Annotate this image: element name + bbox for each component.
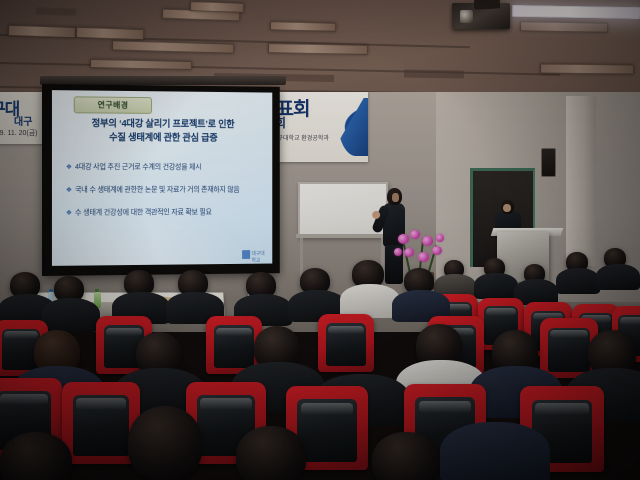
- auditorium-seat[interactable]: [318, 314, 374, 372]
- audience-shoulders: [596, 264, 640, 290]
- seat-highlight: [4, 331, 39, 339]
- orchid-bloom: [436, 234, 444, 242]
- audience-shoulders: [556, 268, 600, 294]
- bullet-marker-icon: ❖: [66, 185, 72, 194]
- slide-bullet-text: 국내 수 생태계에 관한한 논문 및 자료가 거의 존재하지 않음: [75, 185, 240, 194]
- ceiling-light-fixture: [112, 40, 234, 53]
- slide-title: 정부의 ‘4대강 살리기 프로젝트’로 인한 수질 생태계에 관한 관심 급증: [52, 117, 272, 146]
- wall-speaker: [541, 148, 556, 177]
- slide-bullet: ❖4대강 사업 추진 근거로 수계의 건강성을 제시: [66, 162, 265, 172]
- ceiling-vent: [404, 69, 464, 78]
- banner-left-mid-text: 대구: [14, 113, 32, 128]
- presentation-slide: 연구배경 정부의 ‘4대강 살리기 프로젝트’로 인한 수질 생태계에 관한 관…: [52, 90, 272, 266]
- ceiling-light-fixture: [540, 64, 634, 75]
- ceiling-light-fixture: [520, 21, 608, 33]
- seat-highlight: [550, 330, 587, 338]
- slide-bullet: ❖국내 수 생태계에 관한한 논문 및 자료가 거의 존재하지 않음: [66, 185, 265, 195]
- banner-left-date: 2009. 11. 20(금): [0, 128, 38, 138]
- bullet-marker-icon: ❖: [66, 208, 72, 217]
- audience-head-foreground: [372, 432, 440, 480]
- audience-shoulders: [474, 273, 518, 299]
- slide-section-tab-label: 연구배경: [98, 100, 129, 111]
- projector-mount: [474, 0, 500, 10]
- ceiling-projector: [452, 3, 510, 29]
- bullet-marker-icon: ❖: [66, 162, 72, 171]
- banner-right-subtitle: 대구대학교 환경공학과: [272, 133, 329, 142]
- slide-section-tab: 연구배경: [74, 96, 152, 114]
- slide-bullet-list: ❖4대강 사업 추진 근거로 수계의 건강성을 제시 ❖국내 수 생태계에 관한…: [66, 162, 265, 231]
- audience-head-foreground: [0, 432, 72, 480]
- seat-highlight: [419, 401, 471, 413]
- ceiling-light-fixture: [190, 1, 244, 13]
- audience-shoulders: [42, 298, 100, 332]
- audience-shoulders: [440, 422, 550, 480]
- seat-highlight: [0, 394, 48, 405]
- ceiling-light-fixture: [76, 27, 144, 40]
- slide-bullet: ❖수 생태계 건강성에 대한 객관적인 자료 확보 필요: [66, 207, 265, 218]
- audience-seating: [0, 246, 640, 480]
- seat-highlight: [301, 403, 353, 415]
- seat-highlight: [328, 326, 364, 334]
- ceiling-light-fixture: [90, 59, 192, 70]
- seat-highlight: [620, 317, 640, 325]
- presenter-face: [392, 193, 399, 202]
- audience-shoulders: [340, 284, 400, 318]
- ceiling-light-fixture: [8, 25, 76, 38]
- ceiling-vent: [36, 7, 76, 15]
- ceiling-light-fixture: [268, 43, 368, 55]
- seat-highlight: [535, 403, 589, 415]
- wall-pillar: [566, 96, 596, 266]
- audience-head-foreground: [236, 426, 306, 480]
- seat-highlight: [106, 328, 142, 336]
- seat-highlight: [216, 328, 252, 336]
- podium-person-face: [503, 204, 511, 212]
- ceiling-light-fixture: [270, 21, 336, 32]
- ceiling-light-fixture-lit: [512, 5, 640, 19]
- orchid-bloom: [410, 230, 420, 239]
- seat-highlight: [200, 398, 251, 409]
- seat-highlight: [486, 308, 515, 315]
- projector-lens: [460, 10, 473, 23]
- audience-head-foreground: [128, 406, 202, 480]
- orchid-bloom: [398, 234, 409, 244]
- auditorium-photo: 구대 대구 2009. 11. 20(금) 발표회 표회 대구대학교 환경공학과…: [0, 0, 640, 480]
- slide-title-line1: 정부의 ‘4대강 살리기 프로젝트’로 인한: [52, 117, 272, 132]
- slide-bullet-text: 수 생태계 건강성에 대한 객관적인 자료 확보 필요: [75, 207, 212, 216]
- slide-title-line2: 수질 생태계에 관한 관심 급증: [52, 131, 272, 146]
- slide-bullet-text: 4대강 사업 추진 근거로 수계의 건강성을 제시: [75, 162, 201, 171]
- seat-highlight: [76, 398, 126, 409]
- orchid-bloom: [422, 236, 433, 246]
- whiteboard-tray: [296, 234, 388, 238]
